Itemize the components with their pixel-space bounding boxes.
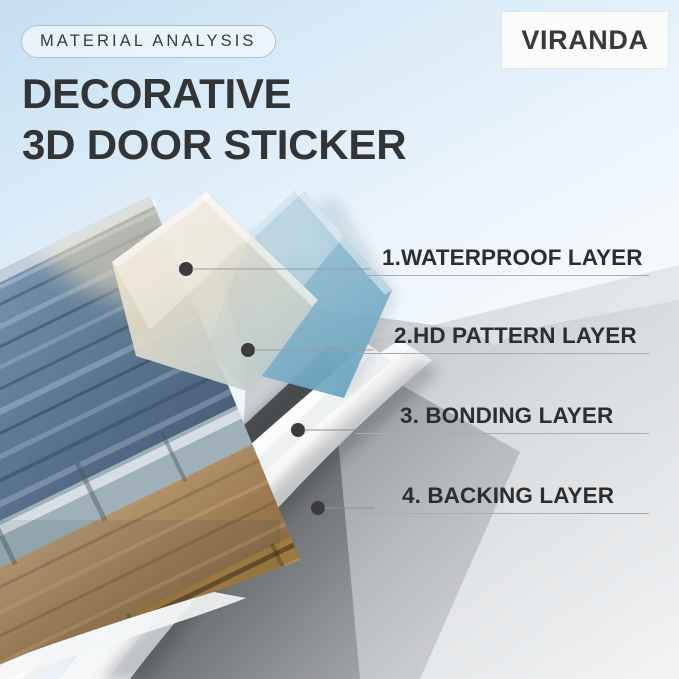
title-line-1: DECORATIVE — [22, 68, 406, 119]
callout-dot-2 — [241, 343, 255, 357]
callout-dot-1 — [179, 262, 193, 276]
page-title: DECORATIVE 3D DOOR STICKER — [22, 68, 406, 170]
callout-label-3: 3. BONDING LAYER — [400, 403, 613, 429]
brand-logo: VIRANDA — [502, 12, 668, 68]
material-analysis-badge: MATERIAL ANALYSIS — [21, 25, 276, 58]
callout-leader-line-3 — [304, 430, 374, 431]
callout-rule-3 — [356, 433, 649, 434]
callout-dot-4 — [311, 501, 325, 515]
callout-rule-4 — [356, 513, 649, 514]
callout-rule-2 — [356, 353, 649, 354]
callout-label-1: 1.WATERPROOF LAYER — [382, 245, 643, 271]
brand-name: VIRANDA — [521, 25, 648, 56]
badge-label: MATERIAL ANALYSIS — [40, 32, 257, 51]
callout-label-4: 4. BACKING LAYER — [402, 483, 614, 509]
product-infographic-poster: MATERIAL ANALYSIS DECORATIVE 3D DOOR STI… — [0, 0, 679, 679]
callout-dot-3 — [291, 423, 305, 437]
callout-leader-line-4 — [324, 508, 374, 509]
title-line-2: 3D DOOR STICKER — [22, 119, 406, 170]
callout-leader-line-2 — [254, 350, 374, 351]
callout-label-2: 2.HD PATTERN LAYER — [394, 323, 637, 349]
callout-rule-1 — [356, 275, 649, 276]
callout-leader-line-1 — [192, 269, 370, 270]
